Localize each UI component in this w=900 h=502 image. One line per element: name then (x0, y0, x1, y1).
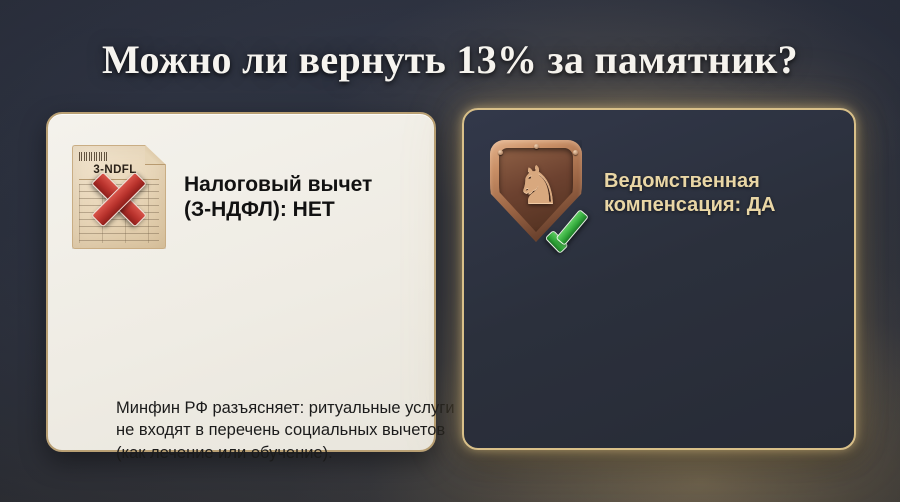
page-title: Можно ли вернуть 13% за памятник? (0, 36, 900, 83)
card-heading-right: Ведомственная компенсация: ДА (604, 169, 775, 217)
barcode-icon (79, 152, 109, 161)
card-tax-deduction: 3-NDFL Налоговый вычет (З-НДФЛ): НЕТ Мин… (46, 112, 436, 452)
card-heading-left: Налоговый вычет (З-НДФЛ): НЕТ (184, 172, 372, 222)
bronze-shield-eagle-icon: ♞ (486, 138, 590, 248)
card-header-right: ♞ Ведомственная компенсация: ДА (486, 134, 838, 252)
card-heading-right-line1: Ведомственная (604, 170, 760, 192)
card-heading-left-line1: Налоговый вычет (184, 173, 372, 196)
double-headed-eagle-icon: ♞ (515, 160, 562, 212)
card-heading-left-line2: (З-НДФЛ): НЕТ (184, 198, 335, 221)
shield-rivet (498, 150, 503, 155)
tax-form-3ndfl-icon: 3-NDFL (72, 145, 166, 249)
green-check-icon (546, 210, 594, 250)
shield-rivet (573, 150, 578, 155)
card-header-left: 3-NDFL Налоговый вычет (З-НДФЛ): НЕТ (72, 142, 416, 252)
red-cross-icon (86, 166, 152, 232)
card-body-left: Минфин РФ разъясняет: ритуальные услуги … (116, 397, 476, 464)
shield-rivet (534, 144, 539, 149)
card-heading-right-line2: компенсация: ДА (604, 194, 775, 216)
card-departmental-compensation: ♞ Ведомственная компенсация: ДА Полное и… (462, 108, 856, 450)
